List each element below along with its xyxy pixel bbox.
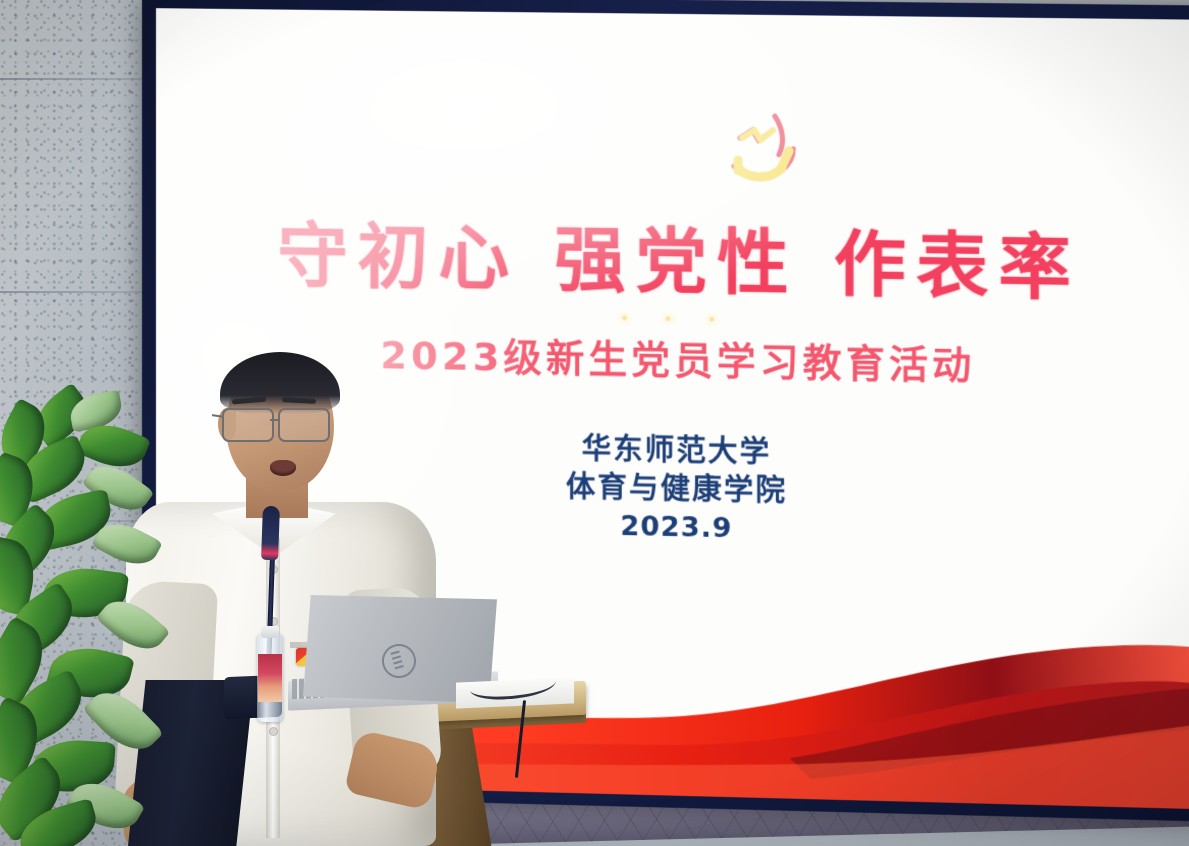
water-bottle-cap: [261, 626, 279, 638]
presenter-mouth: [270, 460, 296, 476]
slide-title: 守初心 强党性 作表率: [156, 198, 1189, 316]
eyeglass-bridge: [270, 419, 280, 421]
eyeglass-temple: [212, 414, 224, 418]
presenter-hair: [220, 352, 340, 414]
eyeglass-lens: [222, 408, 274, 442]
hammer-and-sickle-icon: [718, 107, 812, 195]
potted-pothos-plant: [0, 392, 184, 846]
water-bottle-label: [258, 654, 282, 702]
presentation-photo: 守初心 强党性 作表率 • • • 2023级新生党员学习教育活动 华东师范大学…: [0, 0, 1189, 846]
gooseneck-microphone: [261, 506, 280, 561]
eyeglasses-icon: [216, 408, 344, 440]
shirt-button: [270, 728, 277, 735]
eyeglass-lens: [278, 408, 330, 442]
